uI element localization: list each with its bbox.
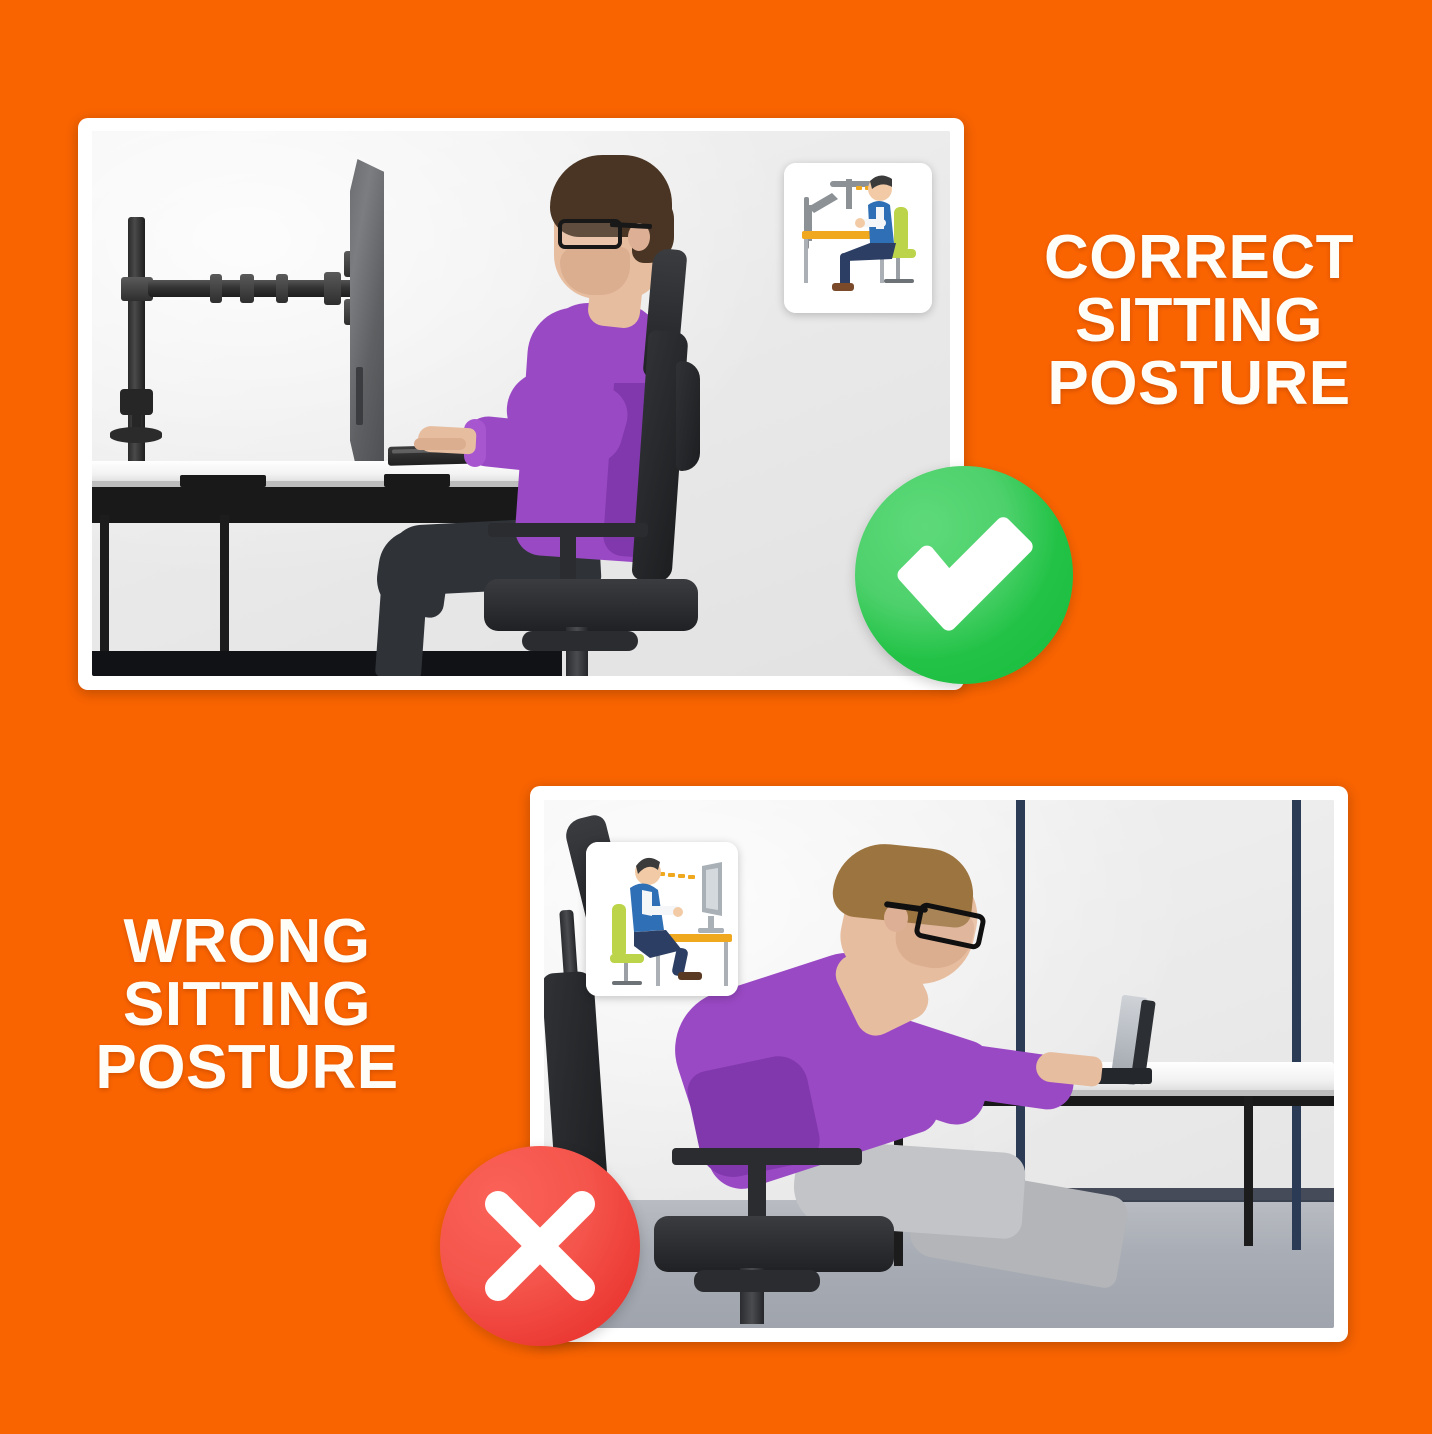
glass-partition	[974, 800, 1334, 1200]
correct-posture-inset-card	[784, 163, 932, 313]
wrong-posture-illustration	[586, 842, 738, 996]
headline-line-2: SITTING	[62, 973, 432, 1036]
wrong-posture-photo-card	[530, 786, 1348, 1342]
person-lower-leg	[375, 585, 427, 676]
desk-bracket-b	[384, 474, 450, 487]
monitor-arm-horizontal-bar	[148, 280, 378, 297]
person-fingers	[414, 438, 466, 450]
cross-icon	[440, 1146, 640, 1346]
monitor-arm-clamp	[120, 389, 153, 415]
check-icon	[855, 466, 1073, 684]
correct-posture-photo	[92, 131, 950, 676]
correct-posture-illustration	[784, 163, 932, 313]
desk-leg-back	[1244, 1096, 1253, 1246]
monitor-arm-base	[110, 427, 162, 443]
desk-apron-beam	[92, 487, 562, 515]
headline-line-3: POSTURE	[1000, 352, 1398, 415]
desk-bracket-a	[180, 475, 266, 487]
wrong-posture-inset-card	[586, 842, 738, 996]
headline-line-1: WRONG	[62, 910, 432, 973]
monitor-panel	[350, 159, 384, 479]
headline-line-1: CORRECT	[1000, 226, 1398, 289]
monitor-arm-joint-mid-3	[276, 274, 288, 303]
chair-base	[522, 631, 638, 651]
chair-armrest	[672, 1148, 862, 1165]
headline-line-3: POSTURE	[62, 1036, 432, 1099]
monitor-arm-joint-mid-2	[240, 274, 254, 303]
wrong-posture-headline: WRONG SITTING POSTURE	[62, 910, 432, 1100]
monitor-arm-joint-head	[324, 272, 341, 305]
wrong-posture-photo	[544, 800, 1334, 1328]
poster-background: CORRECT SITTING POSTURE	[0, 0, 1432, 1434]
monitor-port-cutout	[356, 367, 363, 425]
chair-lumbar-wing	[676, 361, 700, 471]
desk-floor-shadow	[92, 651, 562, 676]
chair-seat	[484, 579, 698, 631]
monitor-arm-joint-mid-1	[210, 274, 222, 303]
correct-posture-photo-card	[78, 118, 964, 690]
cross-badge	[440, 1146, 640, 1346]
glass-mullion-right	[1292, 800, 1301, 1250]
chair-seat	[654, 1216, 894, 1272]
headline-line-2: SITTING	[1000, 289, 1398, 352]
check-badge	[855, 466, 1073, 684]
chair-base	[694, 1270, 820, 1292]
correct-posture-headline: CORRECT SITTING POSTURE	[1000, 226, 1398, 416]
